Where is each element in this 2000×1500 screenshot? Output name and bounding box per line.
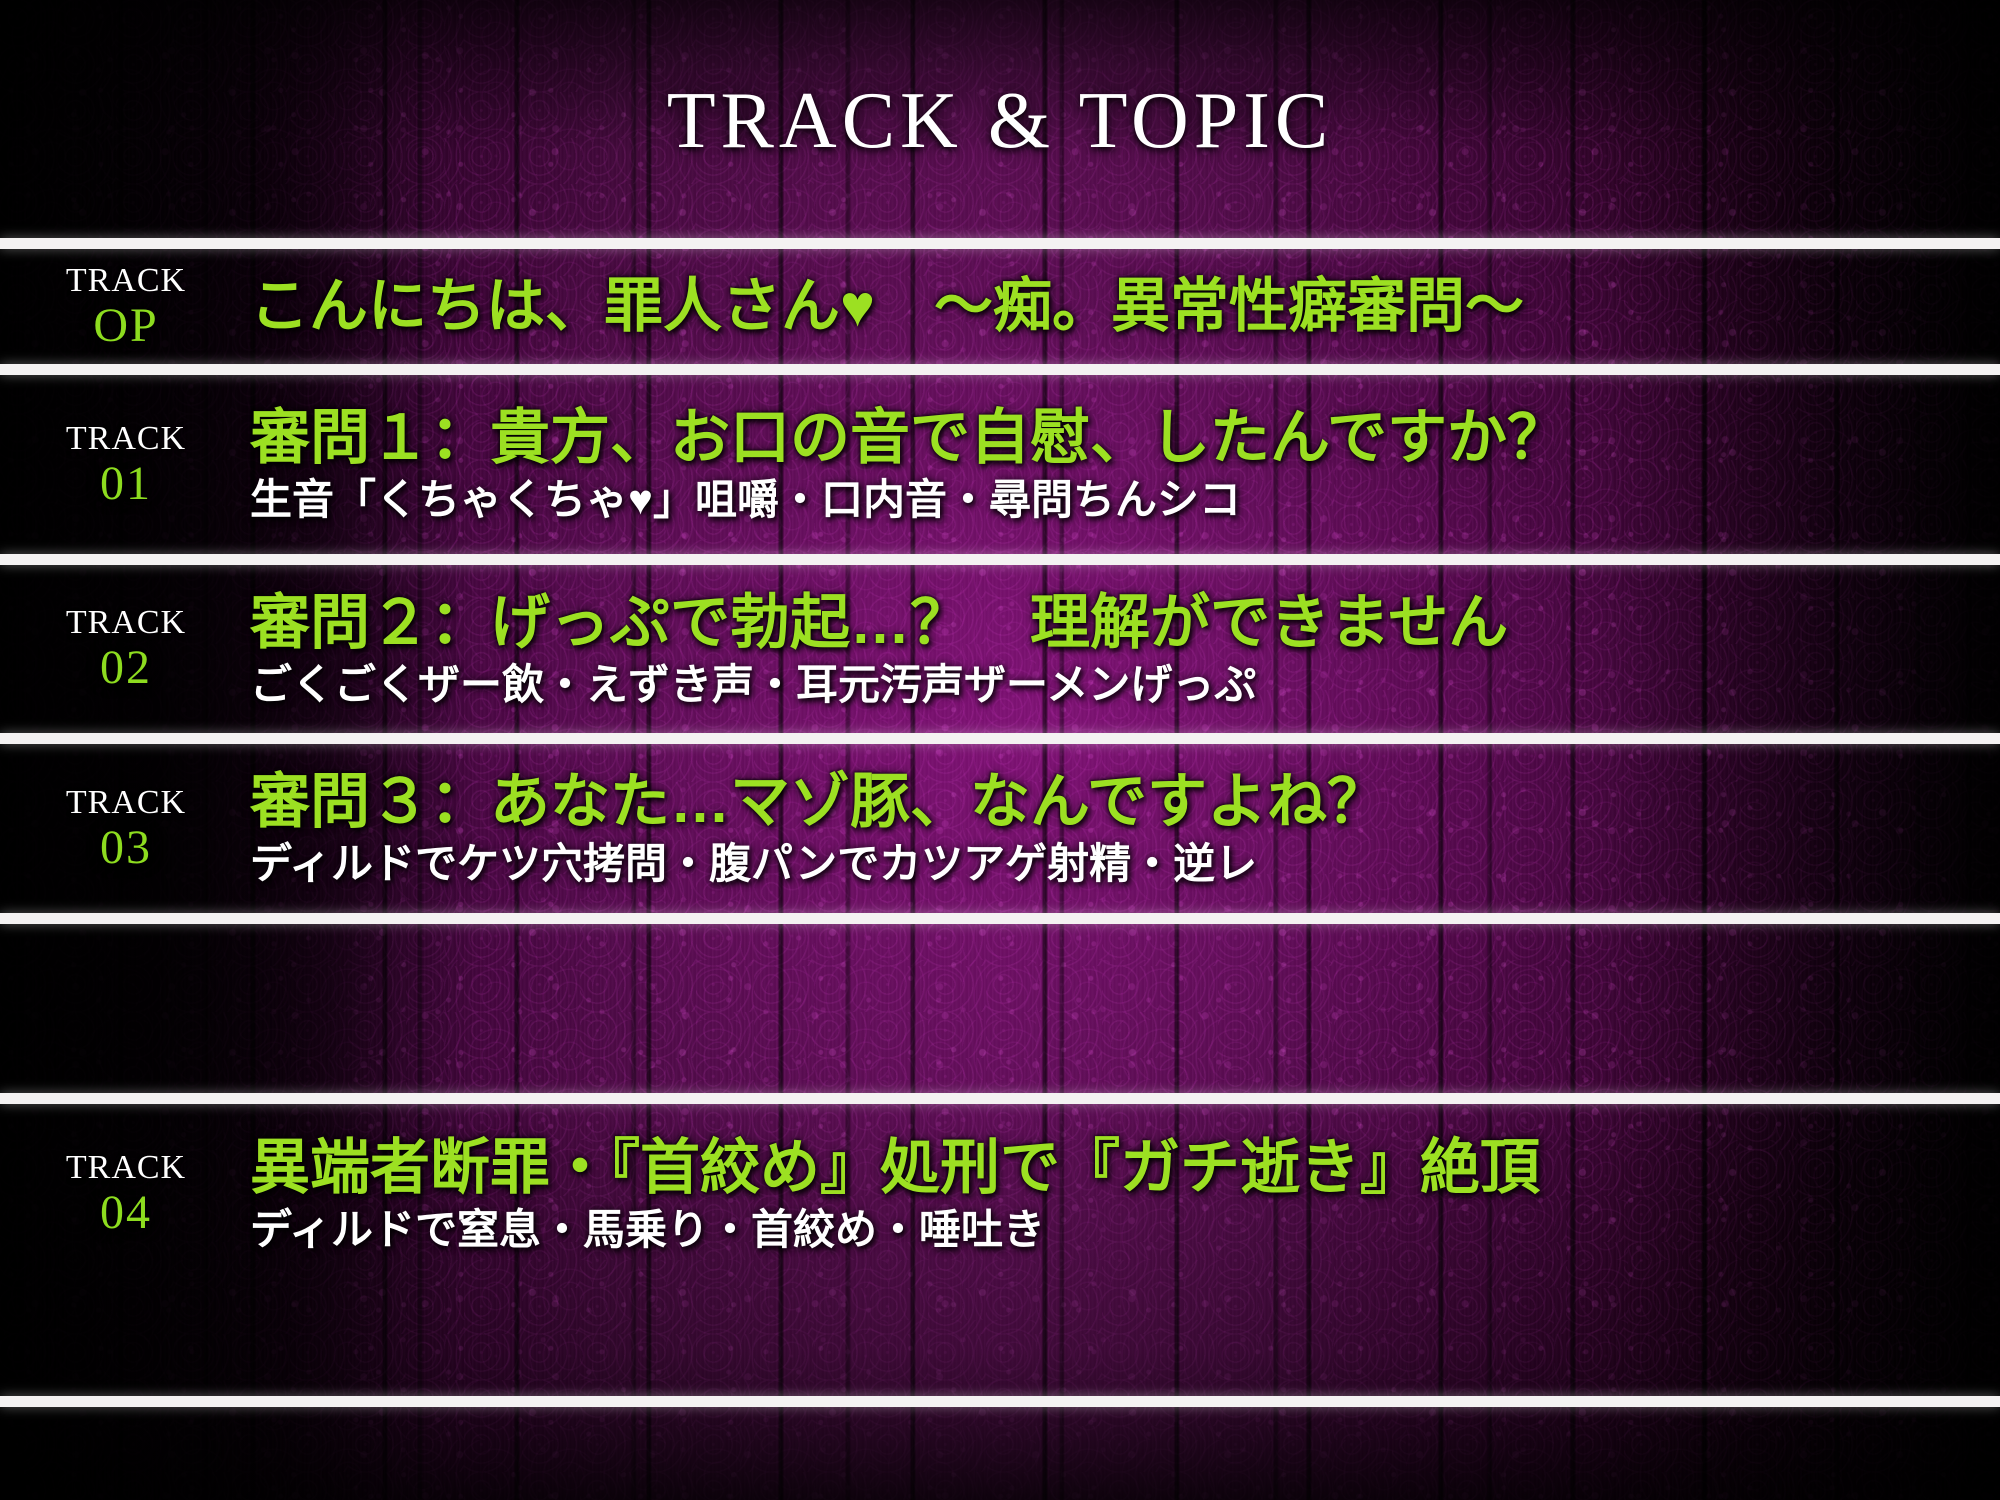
divider-rule-7 bbox=[0, 1396, 2000, 1407]
track-label-02: TRACK 02 bbox=[0, 606, 238, 692]
divider-rule-6 bbox=[0, 1093, 2000, 1104]
track-title-01: 審問１：貴方、お口の音で自慰、したんですか？ bbox=[250, 404, 2000, 471]
track-row-02[interactable]: TRACK 02 審問２：げっぷで勃起…？ 理解ができません ごくごくザー飲・え… bbox=[0, 565, 2000, 733]
track-body-03: 審問３：あなた…マゾ豚、なんですよね？ ディルドでケツ穴拷問・腹パンでカツアゲ射… bbox=[238, 768, 2000, 889]
divider-rule-3 bbox=[0, 554, 2000, 565]
track-subtitle-02: ごくごくザー飲・えずき声・耳元汚声ザーメンげっぷ bbox=[250, 660, 2000, 710]
track-row-04[interactable]: TRACK 04 異端者断罪・『首絞め』処刑で『ガチ逝き』絶頂 ディルドで窒息・… bbox=[0, 1104, 2000, 1284]
track-number-02: 02 bbox=[14, 644, 238, 692]
divider-rule-5 bbox=[0, 913, 2000, 924]
track-label-op: TRACK OP bbox=[0, 264, 238, 350]
track-word-03: TRACK bbox=[14, 786, 238, 820]
track-word-01: TRACK bbox=[14, 422, 238, 456]
divider-rule-4 bbox=[0, 733, 2000, 744]
track-title-04: 異端者断罪・『首絞め』処刑で『ガチ逝き』絶頂 bbox=[250, 1134, 2000, 1201]
track-body-01: 審問１：貴方、お口の音で自慰、したんですか？ 生音「くちゃくちゃ♥」咀嚼・口内音… bbox=[238, 404, 2000, 525]
track-number-04: 04 bbox=[14, 1189, 238, 1237]
track-subtitle-01: 生音「くちゃくちゃ♥」咀嚼・口内音・尋問ちんシコ bbox=[250, 475, 2000, 525]
track-body-op: こんにちは、罪人さん♥ 〜痴。異常性癖審問〜 bbox=[238, 273, 2000, 339]
track-subtitle-03: ディルドでケツ穴拷問・腹パンでカツアゲ射精・逆レ bbox=[250, 839, 2000, 889]
track-row-op[interactable]: TRACK OP こんにちは、罪人さん♥ 〜痴。異常性癖審問〜 bbox=[0, 249, 2000, 364]
track-topic-page: TRACK & TOPIC TRACK OP こんにちは、罪人さん♥ 〜痴。異常… bbox=[0, 0, 2000, 1500]
track-label-04: TRACK 04 bbox=[0, 1151, 238, 1237]
divider-rule-1 bbox=[0, 238, 2000, 249]
divider-rule-2 bbox=[0, 364, 2000, 375]
page-title: TRACK & TOPIC bbox=[667, 76, 1334, 167]
track-body-02: 審問２：げっぷで勃起…？ 理解ができません ごくごくザー飲・えずき声・耳元汚声ザ… bbox=[238, 589, 2000, 710]
track-label-03: TRACK 03 bbox=[0, 786, 238, 872]
track-title-03: 審問３：あなた…マゾ豚、なんですよね？ bbox=[250, 768, 2000, 835]
track-subtitle-04: ディルドで窒息・馬乗り・首絞め・唾吐き bbox=[250, 1205, 2000, 1255]
track-word-op: TRACK bbox=[14, 264, 238, 298]
track-row-01[interactable]: TRACK 01 審問１：貴方、お口の音で自慰、したんですか？ 生音「くちゃくち… bbox=[0, 375, 2000, 554]
track-title-02: 審問２：げっぷで勃起…？ 理解ができません bbox=[250, 589, 2000, 656]
track-row-03[interactable]: TRACK 03 審問３：あなた…マゾ豚、なんですよね？ ディルドでケツ穴拷問・… bbox=[0, 744, 2000, 913]
track-body-04: 異端者断罪・『首絞め』処刑で『ガチ逝き』絶頂 ディルドで窒息・馬乗り・首絞め・唾… bbox=[238, 1134, 2000, 1255]
track-label-01: TRACK 01 bbox=[0, 422, 238, 508]
track-title-op: こんにちは、罪人さん♥ 〜痴。異常性癖審問〜 bbox=[250, 273, 2000, 339]
track-word-04: TRACK bbox=[14, 1151, 238, 1185]
track-number-op: OP bbox=[14, 302, 238, 350]
page-content: TRACK & TOPIC TRACK OP こんにちは、罪人さん♥ 〜痴。異常… bbox=[0, 0, 2000, 1500]
title-band: TRACK & TOPIC bbox=[0, 0, 2000, 238]
track-number-01: 01 bbox=[14, 460, 238, 508]
track-word-02: TRACK bbox=[14, 606, 238, 640]
track-number-03: 03 bbox=[14, 824, 238, 872]
